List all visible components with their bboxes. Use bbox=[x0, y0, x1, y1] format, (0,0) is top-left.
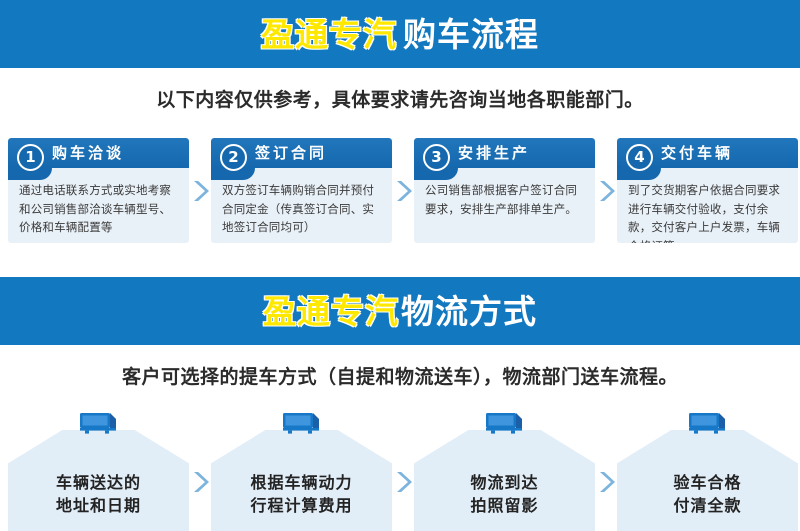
step-title-4: 交付车辆 bbox=[661, 146, 733, 161]
step-number-badge-4: 4 bbox=[626, 144, 653, 171]
logistics-pentagon-2: 根据车辆动力 行程计算费用 bbox=[211, 430, 392, 531]
logistics-subtitle: 客户可选择的提车方式（自提和物流送车），物流部门送车流程。 bbox=[0, 362, 800, 389]
logistics-card-1[interactable]: 车辆送达的 地址和日期 bbox=[8, 408, 189, 531]
chevron-right-icon-1 bbox=[189, 138, 211, 243]
logistics-line1-2: 根据车辆动力 bbox=[250, 471, 352, 495]
brand-name-yellow-1: 盈通专汽 bbox=[261, 18, 397, 51]
chevron-right-icon-3 bbox=[595, 138, 617, 243]
logistics-pentagon-4: 验车合格 付清全款 bbox=[617, 430, 798, 531]
delivery-truck-icon-1 bbox=[8, 408, 189, 438]
chevron-right-icon-6 bbox=[595, 408, 617, 531]
logistics-card-2[interactable]: 根据车辆动力 行程计算费用 bbox=[211, 408, 392, 531]
purchase-steps-row: 1 购车洽谈 通过电话联系方式或实地考察和公司销售部洽谈车辆型号、价格和车辆配置… bbox=[8, 138, 792, 243]
step-header-4: 4 交付车辆 bbox=[617, 138, 798, 168]
step-number-badge-3: 3 bbox=[423, 144, 450, 171]
chevron-right-icon-5 bbox=[392, 408, 414, 531]
step-card-4[interactable]: 4 交付车辆 到了交货期客户依据合同要求进行车辆交付验收，支付余款，交付客户上户… bbox=[617, 138, 798, 243]
step-title-1: 购车洽谈 bbox=[52, 146, 124, 161]
step-header-2: 2 签订合同 bbox=[211, 138, 392, 168]
step-number-badge-2: 2 bbox=[220, 144, 247, 171]
logistics-card-3[interactable]: 物流到达 拍照留影 bbox=[414, 408, 595, 531]
banner-subtext-1: 购车流程 bbox=[403, 18, 539, 51]
step-number-badge-1: 1 bbox=[17, 144, 44, 171]
logistics-line2-3: 拍照留影 bbox=[470, 494, 538, 518]
logistics-pentagon-1: 车辆送达的 地址和日期 bbox=[8, 430, 189, 531]
banner-subtext-2: 物流方式 bbox=[401, 295, 537, 328]
delivery-truck-icon-4 bbox=[617, 408, 798, 438]
chevron-right-icon-4 bbox=[189, 408, 211, 531]
delivery-truck-icon-3 bbox=[414, 408, 595, 438]
banner-title-logistics: 盈通专汽 物流方式 bbox=[263, 295, 537, 328]
banner-title-purchase: 盈通专汽 购车流程 bbox=[261, 18, 539, 51]
step-card-3[interactable]: 3 安排生产 公司销售部根据客户签订合同要求，安排生产部排单生产。 bbox=[414, 138, 595, 243]
logistics-line1-1: 车辆送达的 bbox=[56, 471, 141, 495]
logistics-line1-3: 物流到达 bbox=[470, 471, 538, 495]
delivery-truck-icon-2 bbox=[211, 408, 392, 438]
step-card-1[interactable]: 1 购车洽谈 通过电话联系方式或实地考察和公司销售部洽谈车辆型号、价格和车辆配置… bbox=[8, 138, 189, 243]
brand-name-yellow-2: 盈通专汽 bbox=[263, 295, 399, 328]
logistics-line2-2: 行程计算费用 bbox=[250, 494, 352, 518]
step-header-1: 1 购车洽谈 bbox=[8, 138, 189, 168]
infographic-page: 盈通专汽 购车流程 以下内容仅供参考，具体要求请先咨询当地各职能部门。 1 购车… bbox=[0, 0, 800, 531]
logistics-steps-row: 车辆送达的 地址和日期 根据车辆动力 bbox=[8, 408, 792, 531]
step-header-3: 3 安排生产 bbox=[414, 138, 595, 168]
logistics-banner: 盈通专汽 物流方式 bbox=[0, 277, 800, 345]
logistics-card-4[interactable]: 验车合格 付清全款 bbox=[617, 408, 798, 531]
step-title-3: 安排生产 bbox=[458, 146, 530, 161]
logistics-pentagon-3: 物流到达 拍照留影 bbox=[414, 430, 595, 531]
purchase-subtitle: 以下内容仅供参考，具体要求请先咨询当地各职能部门。 bbox=[0, 85, 800, 112]
logistics-line2-1: 地址和日期 bbox=[56, 494, 141, 518]
step-card-2[interactable]: 2 签订合同 双方签订车辆购销合同并预付合同定金（传真签订合同、实地签订合同均可… bbox=[211, 138, 392, 243]
logistics-line2-4: 付清全款 bbox=[673, 494, 741, 518]
chevron-right-icon-2 bbox=[392, 138, 414, 243]
purchase-process-banner: 盈通专汽 购车流程 bbox=[0, 0, 800, 68]
logistics-line1-4: 验车合格 bbox=[673, 471, 741, 495]
step-title-2: 签订合同 bbox=[255, 146, 327, 161]
